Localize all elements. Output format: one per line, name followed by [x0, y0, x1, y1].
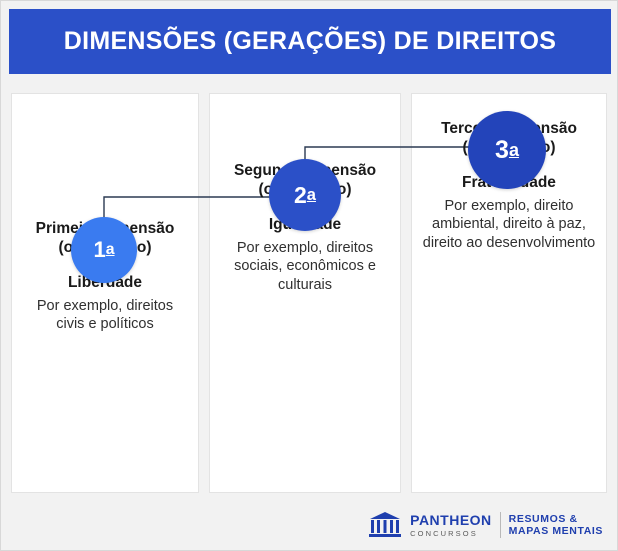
logo-tagline: RESUMOS & MAPAS MENTAIS	[509, 513, 603, 537]
badge-2-ordinal: a	[307, 185, 316, 205]
footer-logo: PANTHEON CONCURSOS RESUMOS & MAPAS MENTA…	[368, 510, 603, 540]
logo-divider	[500, 512, 501, 538]
dimension-3-body: Por exemplo, direito ambiental, direito …	[421, 197, 597, 253]
badge-1-number: 1	[93, 237, 105, 263]
badge-3-ordinal: a	[509, 140, 519, 161]
brand-name: PANTHEON	[410, 513, 492, 527]
page-title: DIMENSÕES (GERAÇÕES) DE DIREITOS	[64, 27, 557, 56]
infographic-page: DIMENSÕES (GERAÇÕES) DE DIREITOS Primeir…	[0, 0, 618, 551]
pantheon-temple-icon	[368, 510, 402, 540]
dimension-1-body: Por exemplo, direitos civis e políticos	[21, 297, 189, 334]
title-bar: DIMENSÕES (GERAÇÕES) DE DIREITOS	[9, 9, 611, 74]
brand-subtitle: CONCURSOS	[410, 530, 492, 538]
badge-circle-3: 3a	[468, 111, 546, 189]
badge-circle-1: 1a	[71, 217, 137, 283]
badge-1-ordinal: a	[106, 241, 115, 259]
logo-wordmark: PANTHEON CONCURSOS	[410, 513, 492, 538]
badge-circle-2: 2a	[269, 159, 341, 231]
badge-2-number: 2	[294, 182, 307, 209]
tagline-line-1: RESUMOS &	[509, 513, 603, 525]
badge-3-number: 3	[495, 136, 509, 165]
tagline-line-2: MAPAS MENTAIS	[509, 525, 603, 537]
dimension-2-body: Por exemplo, direitos sociais, econômico…	[219, 239, 391, 295]
